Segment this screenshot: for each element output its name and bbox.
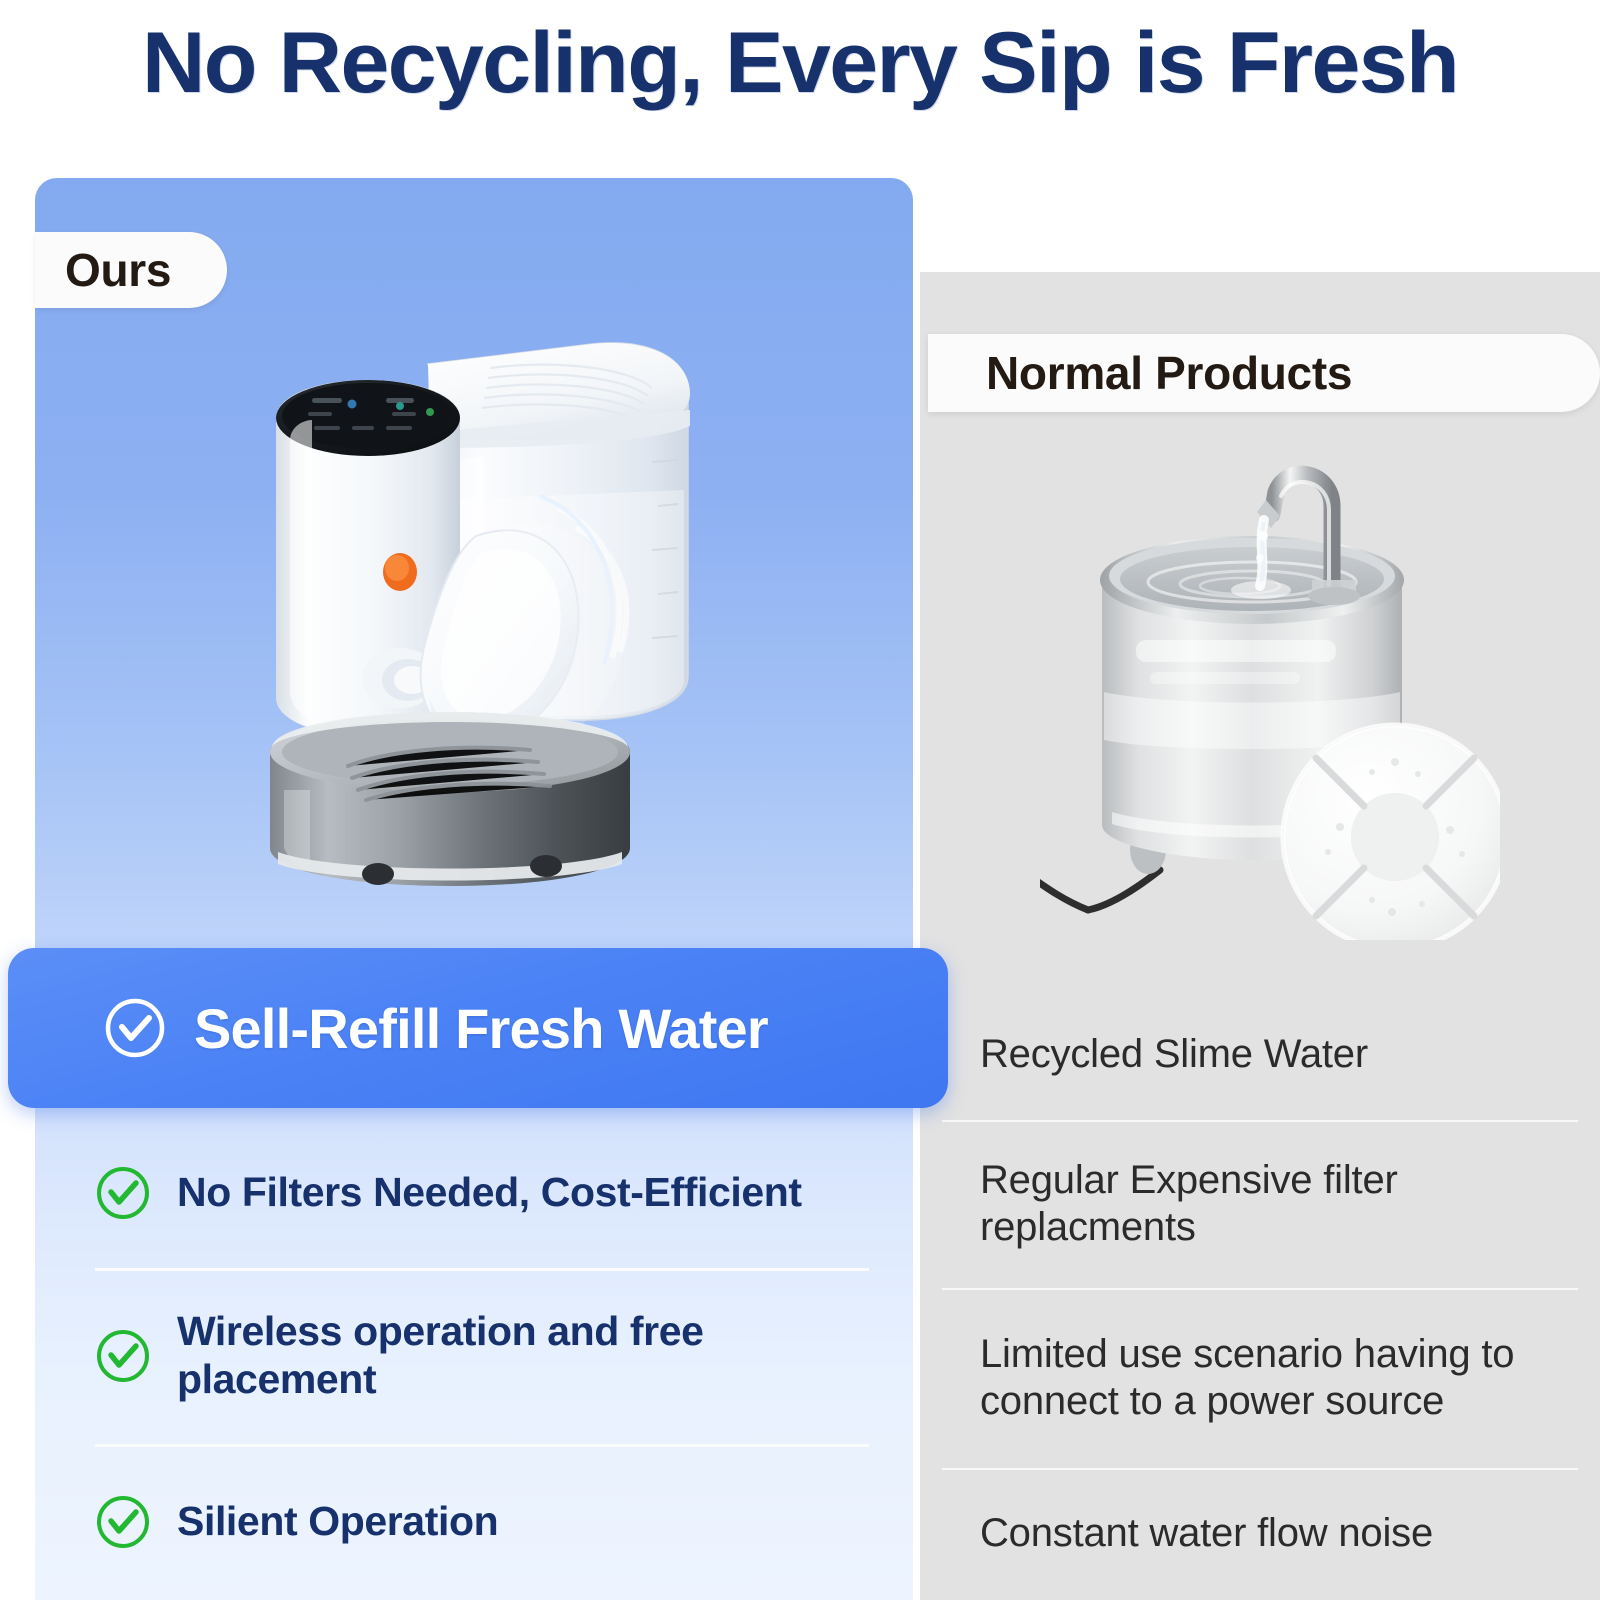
ours-feature-item: No Filters Needed, Cost-Efficient xyxy=(35,1118,913,1268)
ours-feature-label: Wireless operation and free placement xyxy=(177,1308,817,1403)
normal-feature-label: Limited use scenario having to connect t… xyxy=(980,1331,1560,1425)
circle-check-icon xyxy=(95,1165,151,1221)
badge-normal-products: Normal Products xyxy=(928,334,1600,412)
ours-feature-label: Silient Operation xyxy=(177,1498,498,1546)
ours-feature-item: Silient Operation xyxy=(35,1444,913,1600)
comparison-infographic: No Recycling, Every Sip is Fresh xyxy=(0,0,1600,1600)
normal-feature-item: Recycled Slime Water xyxy=(920,990,1600,1120)
ours-feature-list: No Filters Needed, Cost-Efficient Wirele… xyxy=(35,1118,913,1600)
badge-normal-products-label: Normal Products xyxy=(986,346,1352,400)
ours-feature-item: Wireless operation and free placement xyxy=(35,1268,913,1444)
circle-check-icon xyxy=(104,997,166,1059)
badge-ours: Ours xyxy=(35,232,227,308)
normal-feature-item: Constant water flow noise xyxy=(920,1468,1600,1600)
normal-feature-label: Regular Expensive filter replacments xyxy=(980,1157,1510,1251)
ours-product-image xyxy=(240,300,740,900)
normal-feature-item: Limited use scenario having to connect t… xyxy=(920,1288,1600,1468)
ours-feature-label: No Filters Needed, Cost-Efficient xyxy=(177,1169,802,1217)
normal-feature-label: Constant water flow noise xyxy=(980,1510,1433,1557)
normal-feature-list: Recycled Slime Water Regular Expensive f… xyxy=(920,990,1600,1600)
normal-feature-label: Recycled Slime Water xyxy=(980,1031,1368,1078)
circle-check-icon xyxy=(95,1328,151,1384)
highlight-feature-bar: Sell-Refill Fresh Water xyxy=(8,948,948,1108)
normal-product-image xyxy=(1040,440,1500,940)
badge-ours-label: Ours xyxy=(65,243,171,297)
page-title: No Recycling, Every Sip is Fresh xyxy=(0,14,1600,113)
highlight-feature-label: Sell-Refill Fresh Water xyxy=(194,996,768,1061)
circle-check-icon xyxy=(95,1494,151,1550)
normal-feature-item: Regular Expensive filter replacments xyxy=(920,1120,1600,1288)
